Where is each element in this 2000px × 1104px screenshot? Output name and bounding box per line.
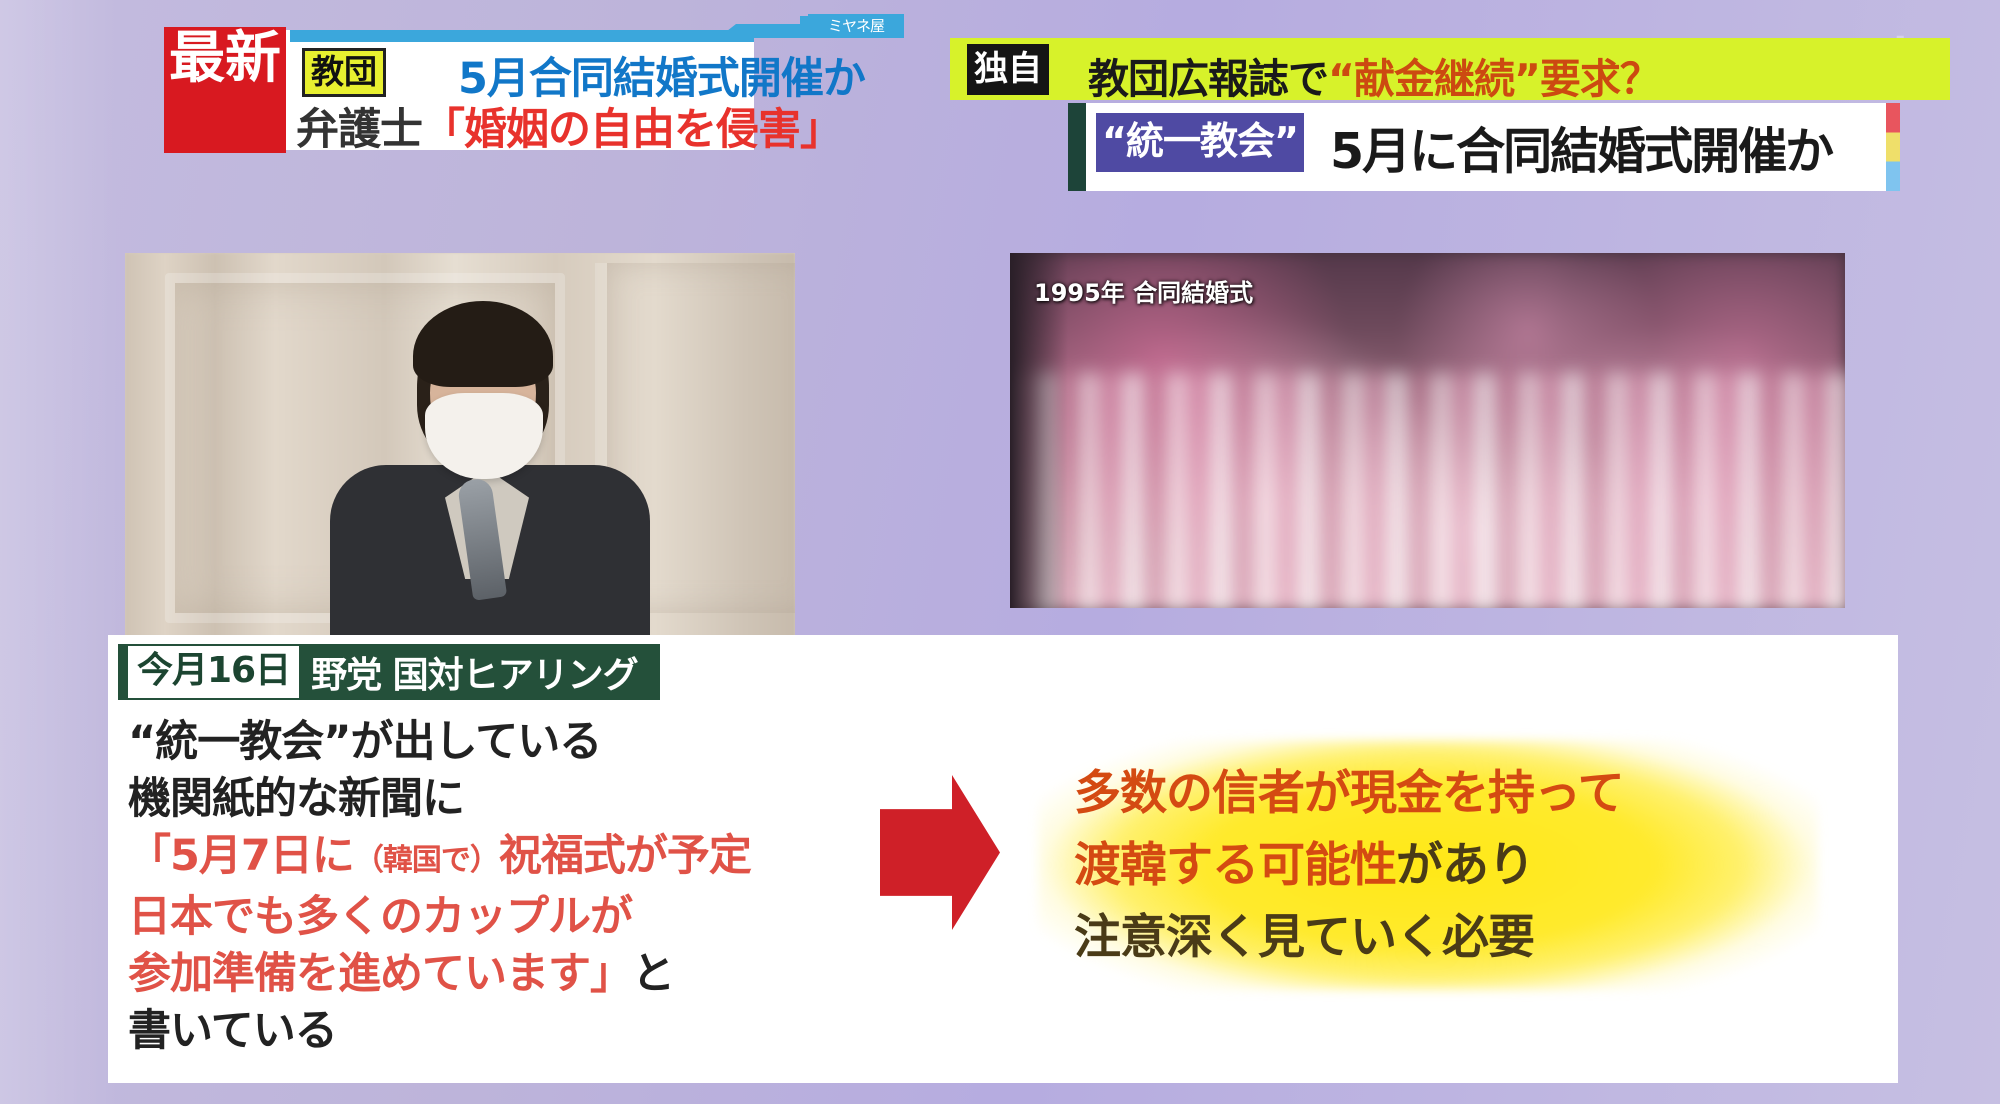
breaking-news-badge: 最新 bbox=[164, 27, 286, 153]
conclusion-line-2: 渡韓する可能性があり bbox=[1074, 830, 1624, 902]
primary-headline-line2: 弁護士「婚姻の自由を侵害」 bbox=[296, 95, 842, 157]
exclusive-text-red: “献金継続” bbox=[1328, 55, 1540, 103]
source-label: 野党 国対ヒアリング bbox=[311, 646, 638, 698]
conclusion-line-3-black: 注意深く見ていく必要 bbox=[1074, 910, 1534, 965]
quote-line-3: 「5月7日に（韓国で）祝福式が予定 bbox=[128, 828, 828, 889]
conclusion-line-3: 注意深く見ていく必要 bbox=[1074, 902, 1624, 974]
secondary-headline-left-bar bbox=[1068, 103, 1086, 191]
mass-wedding-archive-photo: 1995年 合同結婚式 bbox=[1010, 253, 1845, 608]
primary-headline-line2-black: 弁護士 bbox=[296, 105, 422, 155]
quote-line-2: 機関紙的な新聞に bbox=[128, 771, 828, 828]
conclusion-line-2-black: があり bbox=[1396, 838, 1534, 893]
conclusion-line-1-red: 多数の信者が現金を持って bbox=[1074, 766, 1624, 821]
source-bar: 今月16日 野党 国対ヒアリング bbox=[118, 644, 660, 700]
quote-line-3-red: 「5月7日に bbox=[128, 831, 354, 881]
category-badge-kyodan: 教団 bbox=[302, 48, 386, 97]
quote-block: “統一教会”が出している 機関紙的な新聞に 「5月7日に（韓国で）祝福式が予定 … bbox=[128, 714, 828, 1060]
background-sheen bbox=[0, 0, 120, 1104]
conclusion-line-2-red: 渡韓する可能性 bbox=[1074, 838, 1396, 893]
conclusion-block: 多数の信者が現金を持って 渡韓する可能性があり 注意深く見ていく必要 bbox=[1038, 740, 1818, 990]
exclusive-headline-text: 教団広報誌で“献金継続”要求？ bbox=[1088, 45, 1660, 105]
quote-line-5: 参加準備を進めています」と bbox=[128, 946, 828, 1003]
organization-badge: “統一教会” bbox=[1096, 113, 1304, 172]
program-logo: ミヤネ屋 bbox=[808, 14, 904, 38]
exclusive-text-black: 教団広報誌で bbox=[1088, 55, 1328, 103]
quote-line-4: 日本でも多くのカップルが bbox=[128, 889, 828, 946]
archive-photo-caption: 1995年 合同結婚式 bbox=[1034, 273, 1253, 308]
quote-line-3-paren: （韓国で） bbox=[354, 843, 499, 878]
source-date: 今月16日 bbox=[128, 646, 299, 698]
quote-line-1: “統一教会”が出している bbox=[128, 714, 828, 771]
archive-photo-crowd bbox=[1010, 373, 1845, 608]
exclusive-badge: 独自 bbox=[967, 44, 1049, 95]
conclusion-lines: 多数の信者が現金を持って 渡韓する可能性があり 注意深く見ていく必要 bbox=[1074, 758, 1624, 974]
conclusion-line-1: 多数の信者が現金を持って bbox=[1074, 758, 1624, 830]
quote-line-5-red: 参加準備を進めています」 bbox=[128, 949, 632, 999]
quote-line-5-black: と bbox=[632, 949, 674, 999]
primary-headline-accent-bar bbox=[290, 30, 754, 42]
primary-headline-line2-red: 「婚姻の自由を侵害」 bbox=[422, 105, 842, 155]
quote-line-6: 書いている bbox=[128, 1003, 828, 1060]
secondary-headline-text: 5月に合同結婚式開催か bbox=[1330, 112, 1832, 183]
quote-line-3-end: 祝福式が予定 bbox=[499, 831, 751, 881]
secondary-headline-color-stripe bbox=[1886, 103, 1900, 191]
press-conference-photo: 全国霊感商法対策弁護士連絡会 阿部克臣弁護士 bbox=[125, 253, 795, 653]
exclusive-text-red-2: 要求？ bbox=[1540, 55, 1660, 103]
